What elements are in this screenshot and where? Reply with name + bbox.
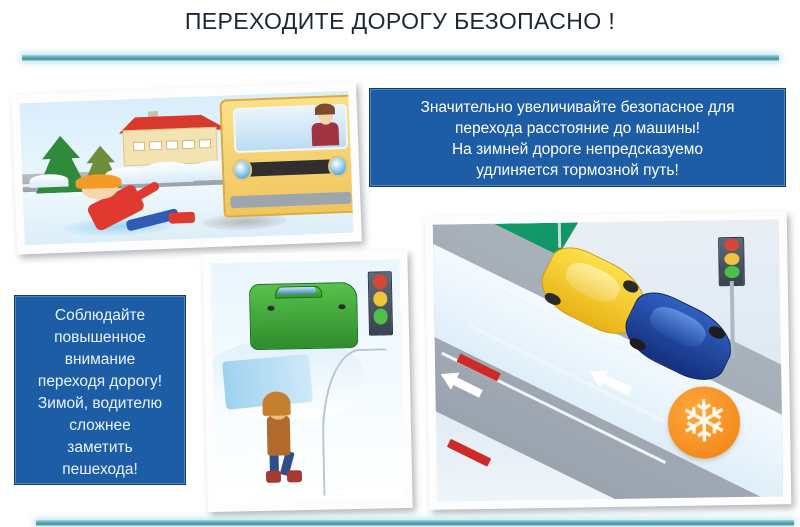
photo-card-slipping-child <box>11 81 362 254</box>
message-line: На зимней дороге непредсказуемо <box>370 139 785 160</box>
message-line: Значительно увеличивайте безопасное для <box>370 97 785 118</box>
message-line: повышенное <box>15 327 185 349</box>
poster-canvas: ПЕРЕХОДИТЕ ДОРОГУ БЕЗОПАСНО ! <box>0 0 800 527</box>
divider-top <box>22 55 779 61</box>
message-line: внимание <box>15 349 185 371</box>
illustration-braking-distance-road: ❄ <box>433 219 783 501</box>
snowflake-icon: ❄ <box>675 393 734 452</box>
traffic-light-icon <box>368 271 394 336</box>
message-box-braking-distance: Значительно увеличивайте безопасное для … <box>369 88 786 187</box>
winter-slippery-badge: ❄ <box>667 386 741 459</box>
illustration-green-car-crossing <box>211 259 405 503</box>
message-line: удлиняется тормозной путь! <box>370 160 785 181</box>
message-line: заметить <box>15 437 185 459</box>
page-title: ПЕРЕХОДИТЕ ДОРОГУ БЕЗОПАСНО ! <box>0 8 800 35</box>
message-line: сложнее <box>15 415 185 437</box>
illustration-slipping-child <box>19 91 353 246</box>
message-box-pedestrian-attention: Соблюдайте повышенное внимание переходя … <box>14 295 186 485</box>
message-line: перехода расстояние до машины! <box>370 118 785 139</box>
green-car-vehicle <box>249 282 358 351</box>
message-line: Соблюдайте <box>15 305 185 327</box>
message-line: пешехода! <box>15 459 185 481</box>
message-line: переходя дорогу! <box>15 371 185 393</box>
photo-card-green-car-crossing <box>202 250 412 512</box>
child-figure <box>267 415 291 456</box>
bus-vehicle <box>219 95 353 218</box>
sign-post <box>557 220 561 248</box>
traffic-light-icon <box>718 236 745 285</box>
photo-card-braking-distance-road: ❄ <box>425 211 792 510</box>
message-line: Зимой, водителю <box>15 393 185 415</box>
divider-bottom <box>36 520 794 526</box>
